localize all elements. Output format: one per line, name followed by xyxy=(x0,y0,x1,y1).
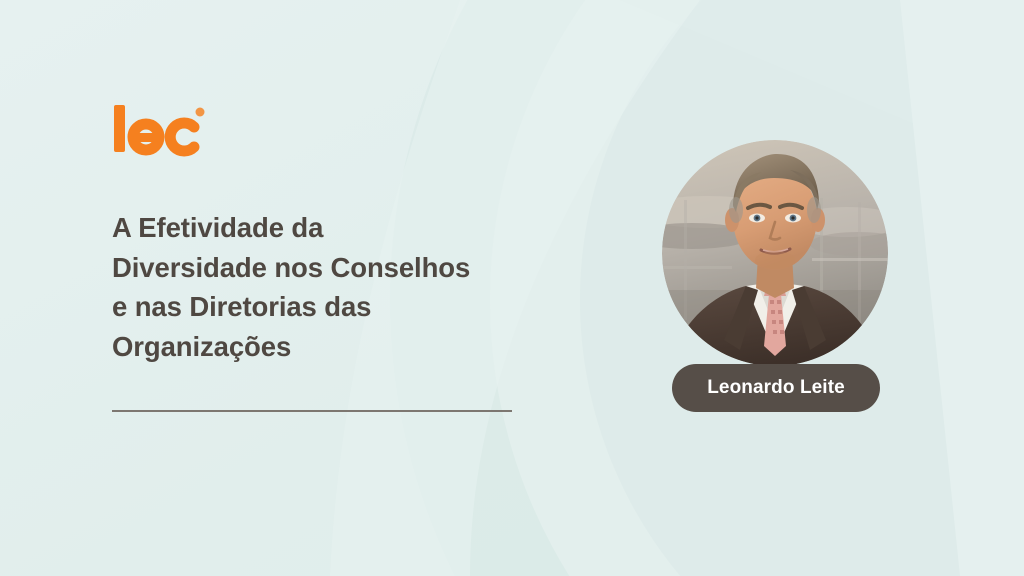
speaker-name-label: Leonardo Leite xyxy=(707,377,845,399)
page-title: A Efetividade da Diversidade nos Conselh… xyxy=(112,208,532,366)
speaker-portrait xyxy=(662,140,888,366)
speaker-photo-icon xyxy=(662,140,888,366)
brand-logo[interactable] xyxy=(112,104,212,160)
lec-logo-icon xyxy=(112,104,212,160)
speaker-name-badge: Leonardo Leite xyxy=(672,364,880,412)
divider xyxy=(112,410,512,412)
presentation-slide: A Efetividade da Diversidade nos Conselh… xyxy=(0,0,1024,576)
